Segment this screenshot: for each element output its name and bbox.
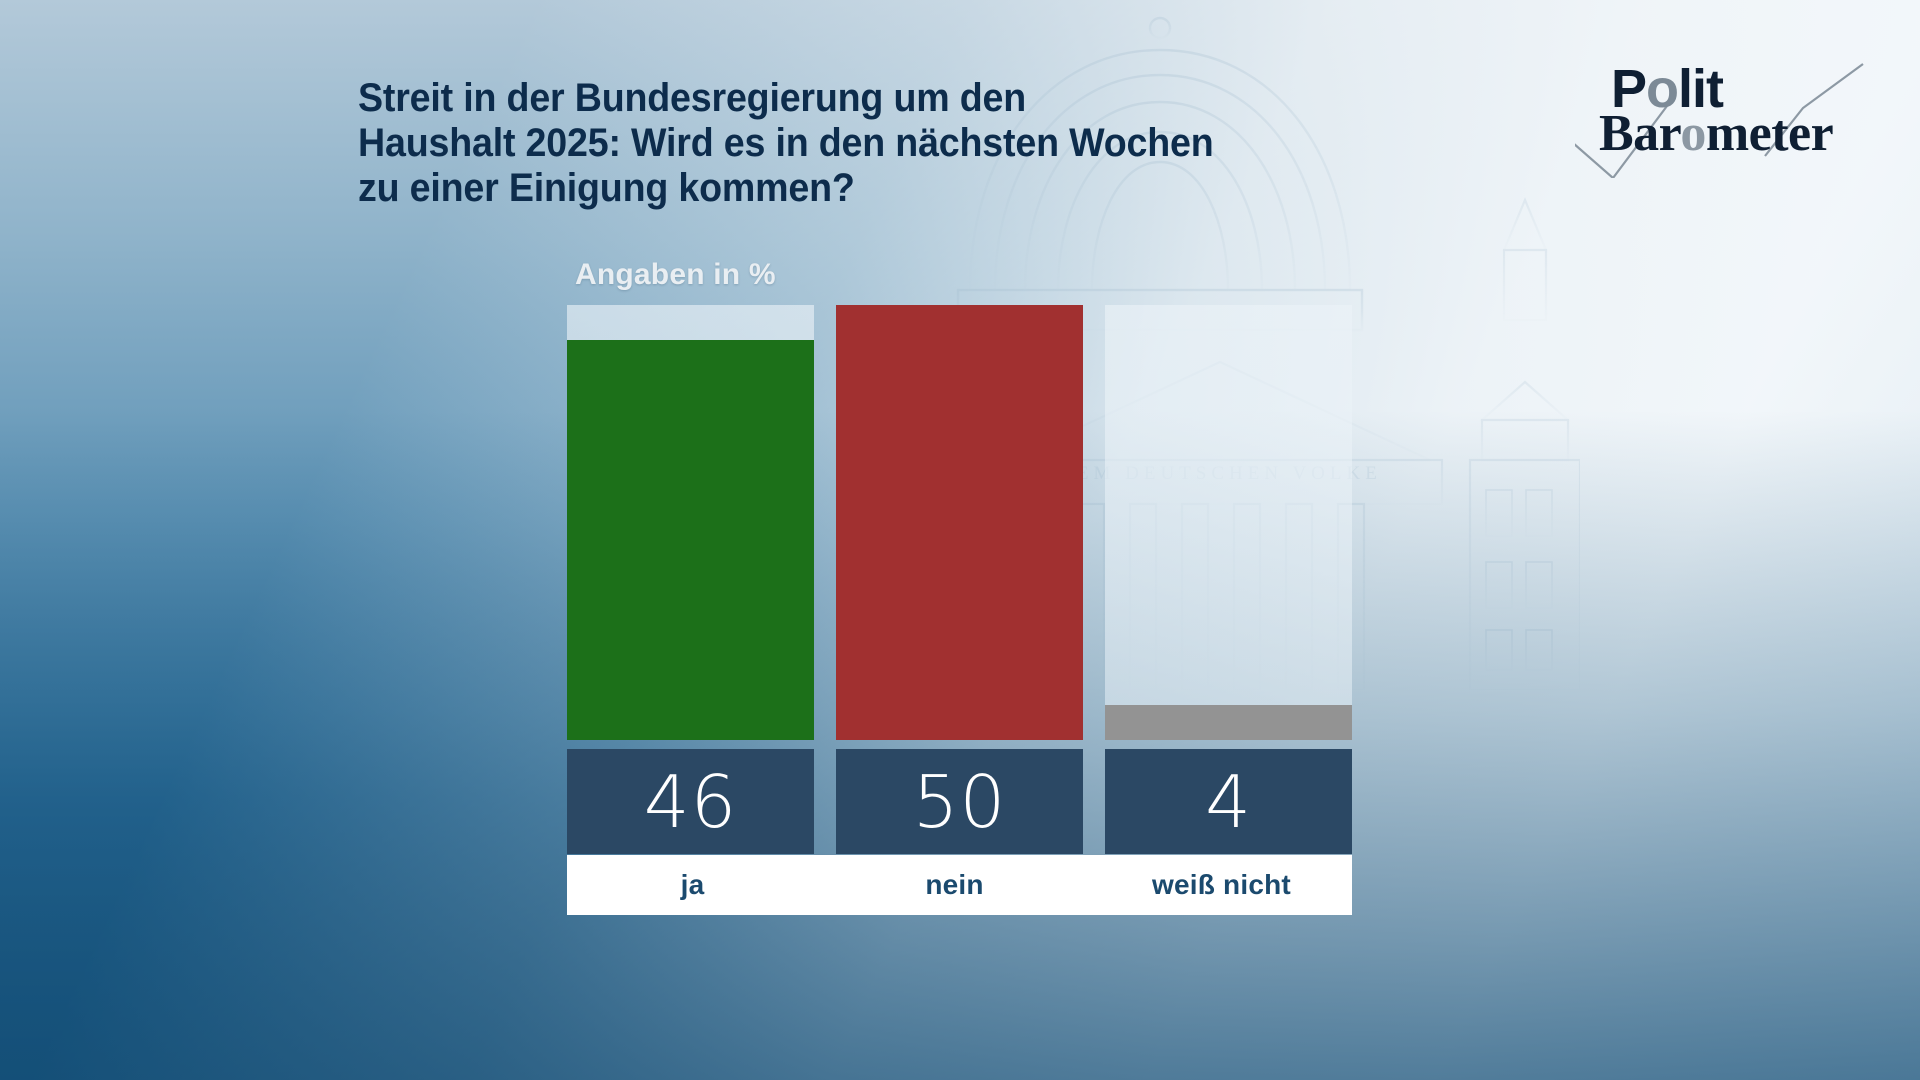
bar-track-ja [567,305,814,740]
value-nein: 50 [836,749,1083,854]
bar-track-nein [836,305,1083,740]
bar-nein [836,305,1083,740]
page-title: Streit in der Bundesregierung um den Hau… [358,76,1486,210]
value-ja: 46 [567,749,814,854]
category-label-ja: ja [567,855,818,915]
value-strip: 46 50 4 [567,749,1352,854]
title-line-1: Streit in der Bundesregierung um den [358,76,1486,121]
bar-track-weiss-nicht [1105,305,1352,740]
logo-barometer-meter: meter [1706,105,1833,162]
title-line-3: zu einer Einigung kommen? [358,166,1486,211]
logo-word-barometer: Barometer [1599,108,1833,160]
category-label-weiss-nicht: weiß nicht [1091,855,1352,915]
logo-barometer-o: o [1680,105,1706,162]
logo-barometer-bar: Bar [1599,105,1680,162]
chart-unit-caption: Angaben in % [575,258,776,292]
value-weiss-nicht: 4 [1105,749,1352,854]
bar-weiss-nicht [1105,705,1352,740]
bar-ja [567,340,814,740]
category-label-nein: nein [818,855,1091,915]
bar-columns [567,305,1352,740]
politbarometer-logo: Polit Barometer [1575,48,1875,178]
title-line-2: Haushalt 2025: Wird es in den nächsten W… [358,121,1486,166]
category-label-strip: ja nein weiß nicht [567,855,1352,915]
bar-chart: 46 50 4 ja nein weiß nicht [567,305,1352,915]
